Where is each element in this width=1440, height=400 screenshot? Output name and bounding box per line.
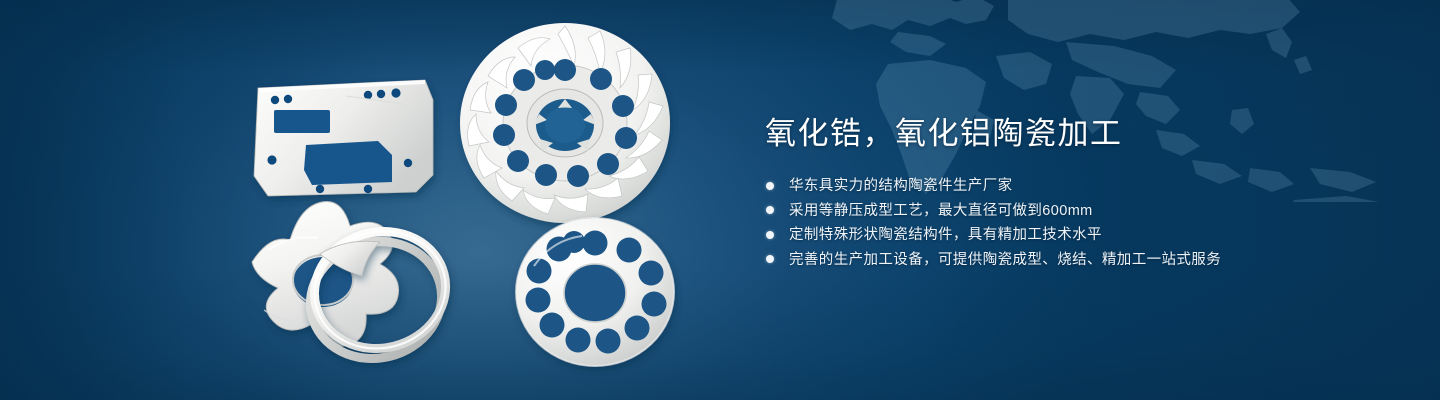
ceramic-impeller-disc	[460, 23, 670, 223]
bullet-dot-icon	[766, 255, 774, 263]
ceramic-products-photo	[228, 0, 698, 400]
list-item: 完善的生产加工设备，可提供陶瓷成型、烧结、精加工一站式服务	[765, 252, 1325, 268]
list-item-label: 定制特殊形状陶瓷结构件，具有精加工技术水平	[789, 227, 1102, 243]
bullet-dot-icon	[766, 182, 774, 190]
list-item-label: 采用等静压成型工艺，最大直径可做到600mm	[789, 203, 1093, 219]
ceramic-perforated-disc	[516, 218, 674, 366]
banner-copy: 氧化锆，氧化铝陶瓷加工 华东具实力的结构陶瓷件生产厂家 采用等静压成型工艺，最大…	[765, 112, 1325, 276]
bullet-dot-icon	[766, 206, 774, 214]
list-item-label: 完善的生产加工设备，可提供陶瓷成型、烧结、精加工一站式服务	[789, 252, 1221, 268]
list-item-label: 华东具实力的结构陶瓷件生产厂家	[789, 178, 1013, 194]
promo-banner: 氧化锆，氧化铝陶瓷加工 华东具实力的结构陶瓷件生产厂家 采用等静压成型工艺，最大…	[0, 0, 1440, 400]
ceramic-plate-with-cutouts	[254, 80, 433, 196]
bullet-dot-icon	[766, 231, 774, 239]
list-item: 采用等静压成型工艺，最大直径可做到600mm	[765, 203, 1325, 219]
list-item: 定制特殊形状陶瓷结构件，具有精加工技术水平	[765, 227, 1325, 243]
list-item: 华东具实力的结构陶瓷件生产厂家	[765, 178, 1325, 194]
feature-list: 华东具实力的结构陶瓷件生产厂家 采用等静压成型工艺，最大直径可做到600mm 定…	[765, 178, 1325, 268]
page-title: 氧化锆，氧化铝陶瓷加工	[765, 112, 1325, 156]
